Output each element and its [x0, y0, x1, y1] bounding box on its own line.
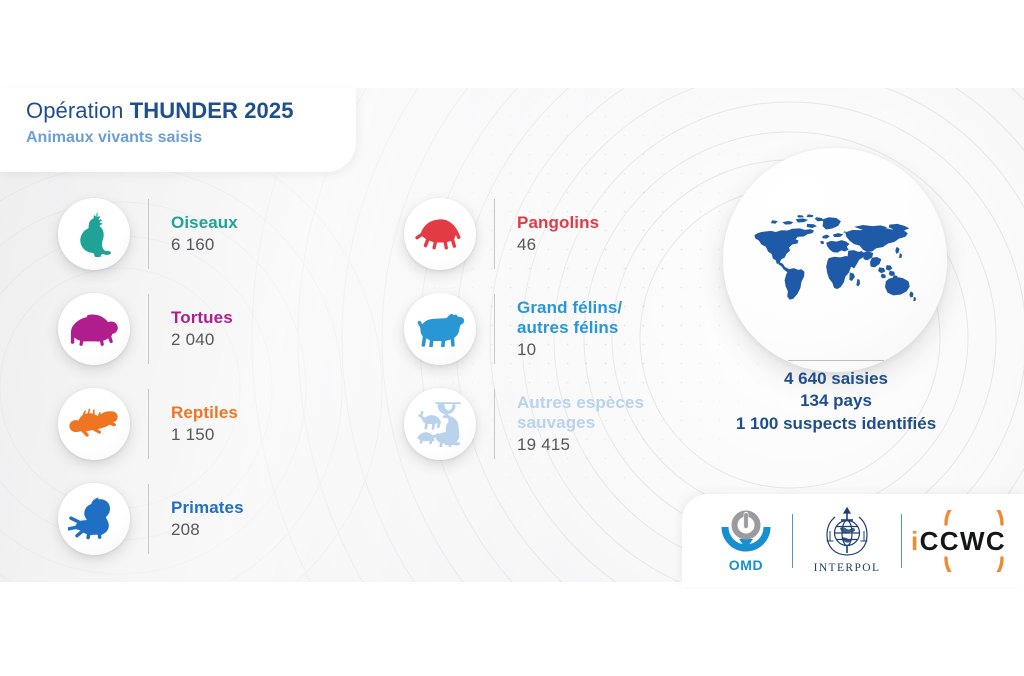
stat-value-reptiles: 1 150 — [171, 425, 238, 445]
stat-text-other-wildlife: Autres espècessauvages 19 415 — [517, 393, 644, 454]
logo-interpol: INTERPOL — [793, 507, 901, 574]
stat-row-big-cats: Grand félins/autres félins 10 — [404, 293, 622, 365]
stat-label-other-wildlife: Autres espècessauvages — [517, 393, 644, 431]
stat-value-primates: 208 — [171, 520, 244, 540]
summary-divider — [788, 360, 884, 361]
big-cat-icon — [415, 311, 465, 347]
logo-card: OMD — [682, 494, 1024, 587]
stat-text-pangolins: Pangolins 46 — [517, 213, 599, 255]
row-divider — [148, 389, 149, 459]
badge-big-cats — [404, 293, 476, 365]
stat-label-big-cats-line1: Grand félins/ — [517, 298, 622, 317]
badge-tortues — [58, 293, 130, 365]
summary-countries: 134 pays — [700, 390, 972, 412]
interpol-logo-icon — [821, 507, 873, 561]
summary-suspects: 1 100 suspects identifiés — [700, 413, 972, 435]
badge-oiseaux — [58, 198, 130, 270]
row-divider — [148, 294, 149, 364]
summary-seizures: 4 640 saisies — [700, 368, 972, 390]
omd-logo-icon — [717, 509, 775, 555]
logo-separator-1 — [792, 514, 793, 568]
page-title: Opération THUNDER 2025 — [26, 98, 294, 124]
tortoise-icon — [70, 312, 118, 346]
stat-value-oiseaux: 6 160 — [171, 235, 238, 255]
row-divider — [148, 199, 149, 269]
stat-row-other-wildlife: Autres espècessauvages 19 415 — [404, 388, 644, 460]
row-divider — [494, 199, 495, 269]
stat-label-big-cats: Grand félins/autres félins — [517, 298, 622, 336]
bird-icon — [73, 211, 115, 257]
stat-value-other-wildlife: 19 415 — [517, 435, 644, 455]
omd-label: OMD — [729, 557, 763, 573]
page-title-light: Opération — [26, 98, 130, 123]
svg-text:iCCWC: iCCWC — [911, 526, 1006, 556]
stat-label-other-wildlife-line2: sauvages — [517, 413, 595, 432]
stat-label-other-wildlife-line1: Autres espèces — [517, 393, 644, 412]
stat-value-pangolins: 46 — [517, 235, 599, 255]
stat-label-pangolins: Pangolins — [517, 213, 599, 232]
stat-row-primates: Primates 208 — [58, 483, 244, 555]
other-wildlife-icon — [413, 399, 467, 449]
logo-iccwc: iCCWC — [902, 510, 1022, 572]
monkey-icon — [68, 497, 120, 541]
badge-other-wildlife — [404, 388, 476, 460]
stat-text-tortues: Tortues 2 040 — [171, 308, 233, 350]
stat-row-reptiles: Reptiles 1 150 — [58, 388, 238, 460]
world-map-circle — [723, 148, 947, 372]
world-map-icon — [743, 214, 927, 306]
iccwc-logo-icon: iCCWC — [906, 510, 1018, 572]
row-divider — [148, 484, 149, 554]
stat-text-big-cats: Grand félins/autres félins 10 — [517, 298, 622, 359]
page-title-bold: THUNDER 2025 — [130, 98, 294, 123]
row-divider — [494, 294, 495, 364]
stat-text-oiseaux: Oiseaux 6 160 — [171, 213, 238, 255]
stat-row-oiseaux: Oiseaux 6 160 — [58, 198, 238, 270]
lizard-icon — [69, 407, 119, 441]
logo-omd: OMD — [700, 509, 792, 573]
badge-pangolins — [404, 198, 476, 270]
stat-row-tortues: Tortues 2 040 — [58, 293, 233, 365]
badge-reptiles — [58, 388, 130, 460]
stat-text-primates: Primates 208 — [171, 498, 244, 540]
stat-label-reptiles: Reptiles — [171, 403, 238, 422]
row-divider — [494, 389, 495, 459]
stat-text-reptiles: Reptiles 1 150 — [171, 403, 238, 445]
badge-primates — [58, 483, 130, 555]
stat-value-tortues: 2 040 — [171, 330, 233, 350]
stat-value-big-cats: 10 — [517, 340, 622, 360]
stat-label-oiseaux: Oiseaux — [171, 213, 238, 232]
interpol-label: INTERPOL — [814, 562, 881, 574]
pangolin-icon — [415, 218, 465, 250]
logo-separator-2 — [901, 514, 902, 568]
title-card: Opération THUNDER 2025 Animaux vivants s… — [0, 88, 356, 172]
page-subtitle: Animaux vivants saisis — [26, 129, 202, 147]
infographic-root: Opération THUNDER 2025 Animaux vivants s… — [0, 0, 1024, 676]
stat-label-big-cats-line2: autres félins — [517, 318, 618, 337]
stat-label-primates: Primates — [171, 498, 244, 517]
summary-stats: 4 640 saisies 134 pays 1 100 suspects id… — [700, 368, 972, 435]
stat-row-pangolins: Pangolins 46 — [404, 198, 599, 270]
stat-label-tortues: Tortues — [171, 308, 233, 327]
